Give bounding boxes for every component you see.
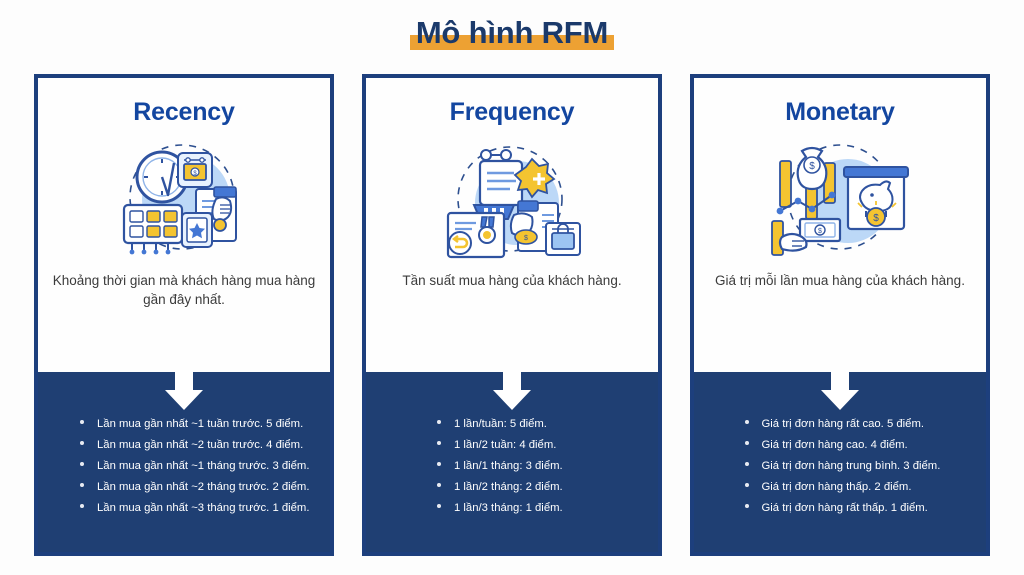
list-item: Giá trị đơn hàng cao. 4 điểm. — [745, 435, 958, 456]
list-item-label: Giá trị đơn hàng rất thấp. 1 điểm. — [762, 498, 928, 519]
list-item-label: 1 lần/3 tháng: 1 điểm. — [454, 498, 563, 519]
bullet-dot-icon — [745, 420, 749, 424]
list-item-label: Giá trị đơn hàng cao. 4 điểm. — [762, 435, 908, 456]
list-item: Giá trị đơn hàng trung bình. 3 điểm. — [745, 456, 958, 477]
card-monetary-heading: Monetary — [785, 98, 895, 127]
list-item: Lần mua gần nhất ~2 tháng trước. 2 điểm. — [80, 477, 310, 498]
list-item-label: Lần mua gần nhất ~2 tháng trước. 2 điểm. — [97, 477, 309, 498]
clock-calendar-receipt-icon: $ — [94, 133, 274, 263]
svg-text:$: $ — [809, 161, 815, 172]
card-monetary[interactable]: Monetary $ — [690, 74, 990, 556]
list-item-label: 1 lần/2 tuần: 4 điểm. — [454, 435, 556, 456]
card-monetary-description: Giá trị mỗi lần mua hàng của khách hàng. — [708, 271, 972, 290]
arrow-down-icon — [489, 370, 535, 412]
list-item: 1 lần/2 tháng: 2 điểm. — [437, 477, 607, 498]
bullet-dot-icon — [745, 462, 749, 466]
list-item-label: Lần mua gần nhất ~1 tháng trước. 3 điểm. — [97, 456, 309, 477]
bullet-dot-icon — [745, 504, 749, 508]
list-item: Lần mua gần nhất ~1 tuần trước. 5 điểm. — [80, 414, 310, 435]
clipboard-medal-shoppingbag-icon: $ — [422, 133, 602, 263]
list-item: Lần mua gần nhất ~2 tuần trước. 4 điểm. — [80, 435, 310, 456]
page-title-wrap: Mô hình RFM — [0, 14, 1024, 60]
bullet-dot-icon — [80, 462, 84, 466]
list-item: 1 lần/2 tuần: 4 điểm. — [437, 435, 607, 456]
list-item: Lần mua gần nhất ~1 tháng trước. 3 điểm. — [80, 456, 310, 477]
list-item: Lần mua gần nhất ~3 tháng trước. 1 điểm. — [80, 498, 310, 519]
bullet-dot-icon — [745, 483, 749, 487]
list-item-label: 1 lần/2 tháng: 2 điểm. — [454, 477, 563, 498]
page-title: Mô hình RFM — [410, 14, 614, 52]
bullet-dot-icon — [437, 462, 441, 466]
bullet-dot-icon — [437, 504, 441, 508]
list-item-label: Giá trị đơn hàng trung bình. 3 điểm. — [762, 456, 941, 477]
bullet-dot-icon — [80, 504, 84, 508]
card-frequency-bullet-list: 1 lần/tuần: 5 điểm. 1 lần/2 tuần: 4 điểm… — [417, 414, 607, 519]
card-frequency[interactable]: Frequency — [362, 74, 662, 556]
svg-text:$: $ — [818, 228, 822, 235]
card-recency-top: Recency $ — [38, 78, 330, 372]
list-item-label: Giá trị đơn hàng rất cao. 5 điểm. — [762, 414, 925, 435]
cards-row: Recency $ — [34, 74, 990, 556]
bullet-dot-icon — [745, 441, 749, 445]
rfm-infographic: Mô hình RFM Recency — [0, 0, 1024, 575]
card-monetary-bottom: Giá trị đơn hàng rất cao. 5 điểm. Giá tr… — [694, 372, 986, 552]
list-item: 1 lần/1 tháng: 3 điểm. — [437, 456, 607, 477]
page-title-text: Mô hình RFM — [416, 15, 608, 50]
list-item: 1 lần/3 tháng: 1 điểm. — [437, 498, 607, 519]
list-item: 1 lần/tuần: 5 điểm. — [437, 414, 607, 435]
card-frequency-description: Tần suất mua hàng của khách hàng. — [380, 271, 644, 290]
arrow-down-icon — [817, 370, 863, 412]
card-frequency-bottom: 1 lần/tuần: 5 điểm. 1 lần/2 tuần: 4 điểm… — [366, 372, 658, 552]
list-item: Giá trị đơn hàng thấp. 2 điểm. — [745, 477, 958, 498]
bullet-dot-icon — [437, 441, 441, 445]
bullet-dot-icon — [437, 420, 441, 424]
card-frequency-heading: Frequency — [450, 98, 575, 127]
card-monetary-bullet-list: Giá trị đơn hàng rất cao. 5 điểm. Giá tr… — [723, 414, 958, 519]
list-item: Giá trị đơn hàng rất cao. 5 điểm. — [745, 414, 958, 435]
moneybag-chart-piggybank-icon: $ $ — [750, 133, 930, 263]
svg-text:$: $ — [873, 213, 879, 224]
card-recency-bullet-list: Lần mua gần nhất ~1 tuần trước. 5 điểm. … — [58, 414, 310, 519]
list-item-label: Lần mua gần nhất ~3 tháng trước. 1 điểm. — [97, 498, 309, 519]
bullet-dot-icon — [80, 441, 84, 445]
bullet-dot-icon — [80, 483, 84, 487]
card-recency-heading: Recency — [133, 98, 234, 127]
card-monetary-top: Monetary $ — [694, 78, 986, 372]
card-recency-bottom: Lần mua gần nhất ~1 tuần trước. 5 điểm. … — [38, 372, 330, 552]
card-recency[interactable]: Recency $ — [34, 74, 334, 556]
arrow-down-icon — [161, 370, 207, 412]
card-recency-description: Khoảng thời gian mà khách hàng mua hàng … — [52, 271, 316, 309]
list-item-label: 1 lần/tuần: 5 điểm. — [454, 414, 547, 435]
list-item-label: Lần mua gần nhất ~1 tuần trước. 5 điểm. — [97, 414, 303, 435]
card-frequency-top: Frequency — [366, 78, 658, 372]
svg-text:$: $ — [524, 235, 528, 242]
bullet-dot-icon — [437, 483, 441, 487]
list-item-label: Giá trị đơn hàng thấp. 2 điểm. — [762, 477, 912, 498]
list-item-label: Lần mua gần nhất ~2 tuần trước. 4 điểm. — [97, 435, 303, 456]
bullet-dot-icon — [80, 420, 84, 424]
list-item: Giá trị đơn hàng rất thấp. 1 điểm. — [745, 498, 958, 519]
list-item-label: 1 lần/1 tháng: 3 điểm. — [454, 456, 563, 477]
